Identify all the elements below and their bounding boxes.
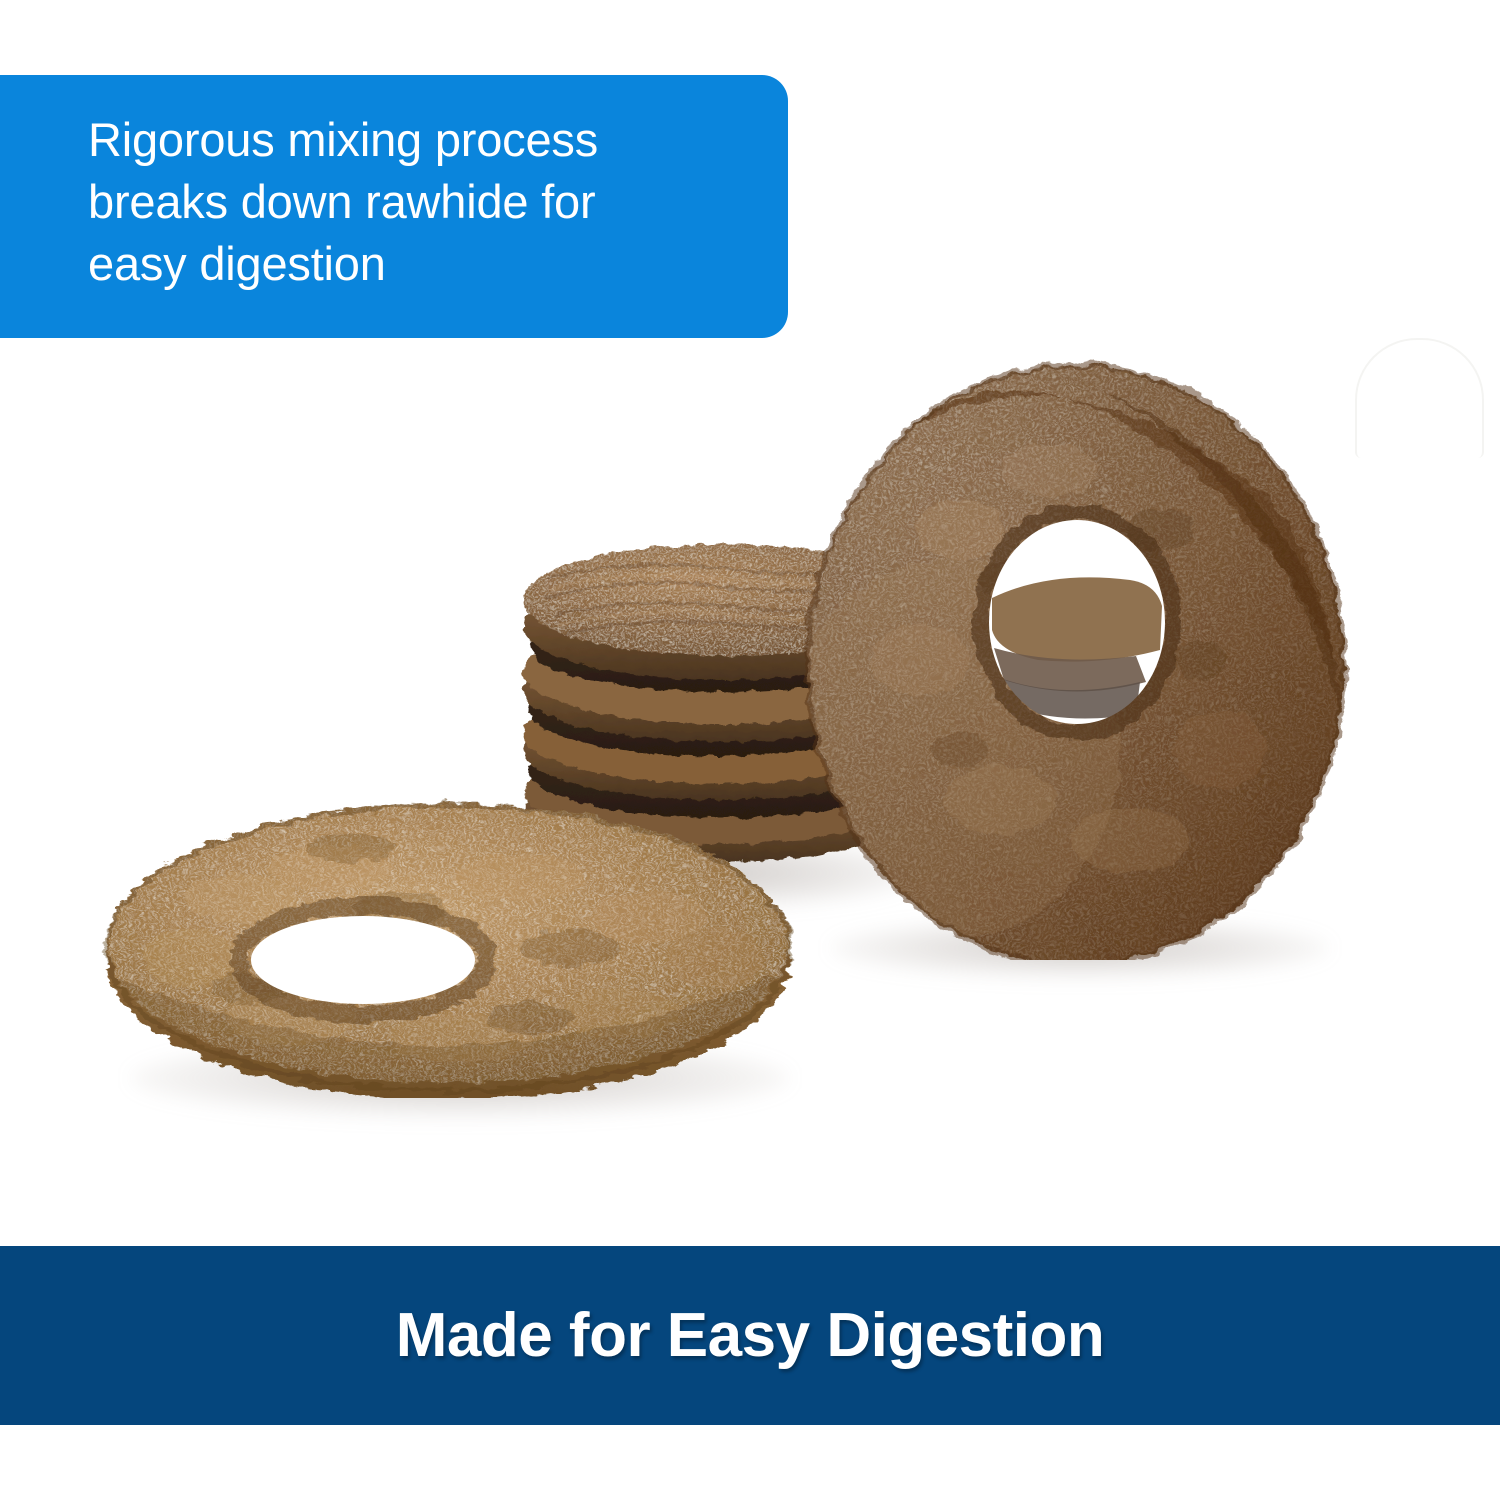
product-photo bbox=[0, 338, 1500, 1246]
upright-ring bbox=[800, 338, 1356, 960]
footer-band: Made for Easy Digestion bbox=[0, 1246, 1500, 1425]
footer-headline: Made for Easy Digestion bbox=[0, 1246, 1500, 1425]
bottom-white-strip bbox=[0, 1425, 1500, 1500]
callout-text: Rigorous mixing process breaks down rawh… bbox=[88, 109, 738, 295]
product-marketing-image: Rigorous mixing process breaks down rawh… bbox=[0, 0, 1500, 1500]
front-ring bbox=[100, 788, 806, 1098]
callout-banner: Rigorous mixing process breaks down rawh… bbox=[0, 75, 788, 338]
dome-outline-watermark bbox=[1355, 338, 1484, 458]
